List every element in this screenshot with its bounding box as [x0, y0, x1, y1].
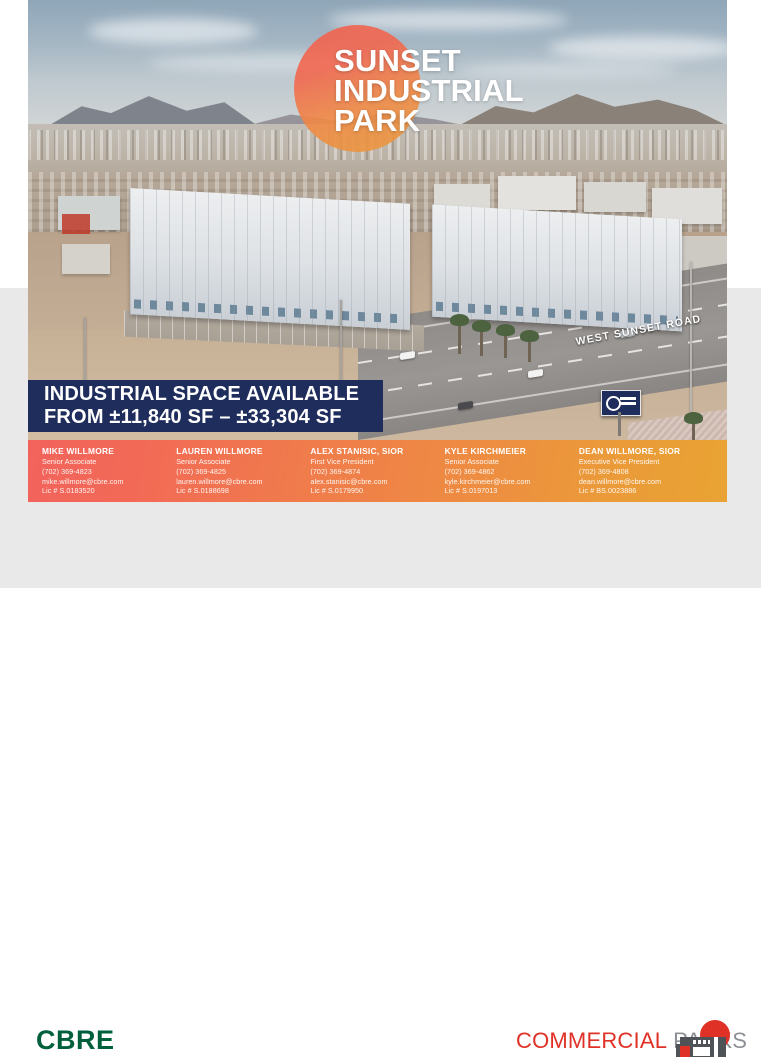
- building-window-large: [693, 1047, 710, 1056]
- contact-email[interactable]: kyle.kirchmeier@cbre.com: [445, 477, 571, 487]
- cloud-icon: [548, 36, 727, 60]
- commercial-parks-word-commercial: COMMERCIAL: [516, 1029, 667, 1053]
- headline-line-2: FROM ±11,840 SF – ±33,304 SF: [44, 406, 383, 429]
- contact-email[interactable]: mike.willmore@cbre.com: [42, 477, 168, 487]
- building-red-accent: [680, 1046, 690, 1057]
- construction-equipment: [62, 214, 90, 234]
- contact-card: ALEX STANISIC, SIOR First Vice President…: [310, 446, 444, 495]
- flyer-page: WEST SUNSET ROAD SUNSET INDUSTRIAL PARK …: [0, 0, 761, 588]
- availability-headline-banner: INDUSTRIAL SPACE AVAILABLE FROM ±11,840 …: [28, 380, 383, 432]
- palm-tree: [528, 338, 531, 362]
- cbre-logo[interactable]: CBRE: [36, 1027, 115, 1054]
- contact-name: DEAN WILLMORE, SIOR: [579, 446, 705, 457]
- palm-tree: [458, 322, 461, 354]
- contact-license: Lic # S.0183520: [42, 486, 168, 496]
- contact-phone[interactable]: (702) 369-4823: [42, 467, 168, 477]
- contact-license: Lic # BS.0023886: [579, 486, 705, 496]
- warehouse-panel-lines: [432, 205, 682, 332]
- warehouse-panel-lines: [130, 188, 410, 330]
- contact-name: LAUREN WILLMORE: [176, 446, 302, 457]
- contact-title: First Vice President: [310, 457, 436, 467]
- project-title-line-2: INDUSTRIAL: [334, 76, 524, 106]
- warehouse-building-north: [130, 188, 410, 330]
- footer: CBRE COMMERCIAL PARKS: [0, 502, 761, 588]
- contact-phone[interactable]: (702) 369-4862: [445, 467, 571, 477]
- project-title: SUNSET INDUSTRIAL PARK: [334, 46, 524, 136]
- contact-bar: MIKE WILLMORE Senior Associate (702) 369…: [28, 440, 727, 502]
- contact-name: ALEX STANISIC, SIOR: [310, 446, 436, 457]
- contact-card: MIKE WILLMORE Senior Associate (702) 369…: [42, 446, 176, 495]
- contact-name: KYLE KIRCHMEIER: [445, 446, 571, 457]
- contact-phone[interactable]: (702) 369-4825: [176, 467, 302, 477]
- contact-email[interactable]: dean.willmore@cbre.com: [579, 477, 705, 487]
- hero-aerial-photo: WEST SUNSET ROAD SUNSET INDUSTRIAL PARK: [28, 0, 727, 440]
- palm-tree: [504, 332, 507, 358]
- light-pole: [690, 262, 692, 412]
- contact-name: MIKE WILLMORE: [42, 446, 168, 457]
- industrial-building: [62, 244, 110, 274]
- project-title-line-3: PARK: [334, 106, 524, 136]
- building-vertical-stripe: [714, 1037, 718, 1057]
- contact-email[interactable]: alex.stanisic@cbre.com: [310, 477, 436, 487]
- industrial-building: [584, 182, 646, 212]
- contact-email[interactable]: lauren.willmore@cbre.com: [176, 477, 302, 487]
- commercial-parks-building-icon: [676, 1020, 734, 1064]
- contact-title: Executive Vice President: [579, 457, 705, 467]
- contact-phone[interactable]: (702) 369-4808: [579, 467, 705, 477]
- palm-tree: [480, 328, 483, 356]
- cbre-property-sign: [601, 390, 641, 416]
- sign-logo-icon: [606, 396, 621, 411]
- sign-post: [618, 412, 621, 436]
- contact-license: Lic # S.0188698: [176, 486, 302, 496]
- warehouse-building-south: [432, 205, 682, 332]
- contact-license: Lic # S.0179950: [310, 486, 436, 496]
- contact-card: LAUREN WILLMORE Senior Associate (702) 3…: [176, 446, 310, 495]
- industrial-building: [498, 176, 576, 210]
- building-window-row: [693, 1040, 710, 1044]
- cloud-icon: [88, 18, 258, 44]
- contact-card: DEAN WILLMORE, SIOR Executive Vice Presi…: [579, 446, 713, 495]
- palm-tree: [692, 420, 695, 440]
- contact-title: Senior Associate: [445, 457, 571, 467]
- project-title-line-1: SUNSET: [334, 46, 524, 76]
- contact-phone[interactable]: (702) 369-4874: [310, 467, 436, 477]
- contact-title: Senior Associate: [176, 457, 302, 467]
- headline-line-1: INDUSTRIAL SPACE AVAILABLE: [44, 383, 383, 406]
- contact-title: Senior Associate: [42, 457, 168, 467]
- sign-text-lines: [620, 397, 636, 400]
- contact-license: Lic # S.0197013: [445, 486, 571, 496]
- contact-card: KYLE KIRCHMEIER Senior Associate (702) 3…: [445, 446, 579, 495]
